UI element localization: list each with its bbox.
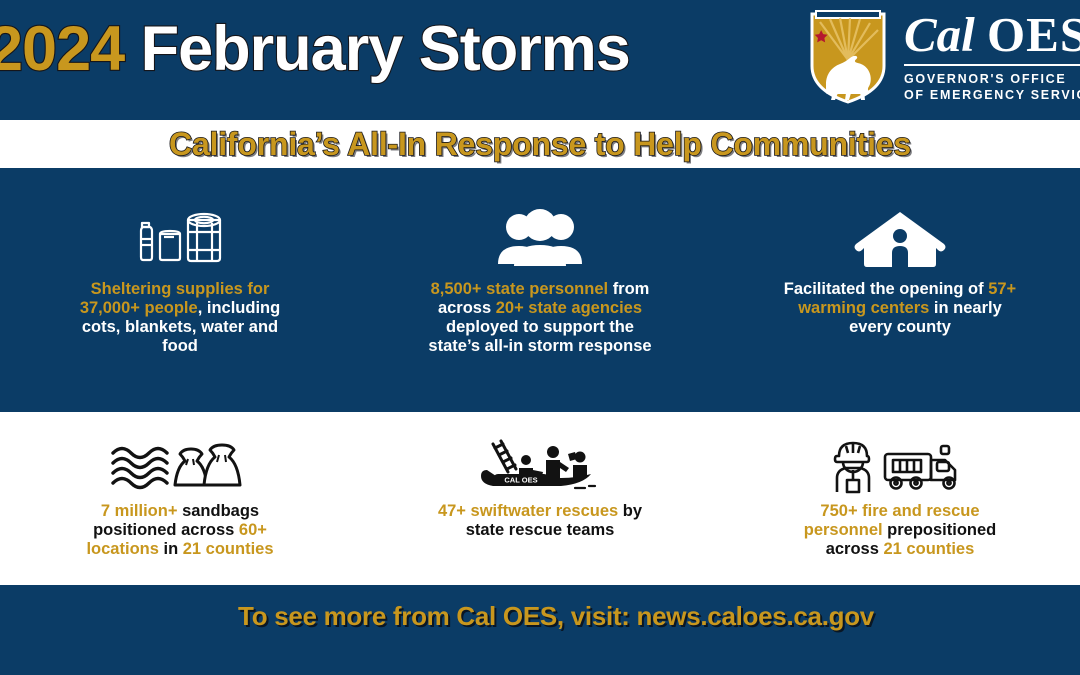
cal-oes-bear-shield-icon — [806, 6, 890, 106]
stat-text-swiftwater-rescues: 47+ swiftwater rescues by state rescue t… — [423, 502, 658, 540]
title-rest: February Storms — [124, 14, 630, 84]
footer-bar: To see more from Cal OES, visit: news.ca… — [0, 585, 1080, 675]
stat-card-warming-centers: Facilitated the opening of 57+ warming c… — [720, 168, 1080, 412]
stat-text-segment: in — [163, 540, 182, 558]
stats-row-top: Sheltering supplies for 37,000+ people, … — [0, 168, 1080, 412]
stat-card-sheltering-supplies: Sheltering supplies for 37,000+ people, … — [0, 168, 360, 412]
stat-text-segment: 7 million+ — [101, 502, 182, 520]
footer-text-inner: To see more from Cal OES, visit: news.ca… — [238, 601, 874, 632]
footer-link-text[interactable]: To see more from Cal OES, visit: news.ca… — [0, 601, 1080, 632]
logo-subtitle-line1: GOVERNOR'S OFFICE — [904, 71, 1080, 88]
stat-text-segment: deployed to support the state’s all-in s… — [428, 318, 651, 355]
stat-text-segment: 8,500+ state personnel — [431, 280, 613, 298]
stat-card-sandbags: 7 million+ sandbags positioned across 60… — [0, 412, 360, 585]
stat-text-segment: 47+ swiftwater rescues — [438, 502, 623, 520]
stat-text-segment: 20+ state agencies — [496, 299, 642, 317]
waves-and-sandbags-icon — [105, 436, 255, 494]
cal-oes-logo: Cal OES GOVERNOR'S OFFICE OF EMERGENCY S… — [806, 6, 1080, 106]
stat-text-fire-rescue-personnel: 750+ fire and rescue personnel prepositi… — [783, 502, 1018, 559]
stat-text-segment: Facilitated the opening of — [784, 280, 988, 298]
shelter-supplies-icon — [128, 208, 232, 270]
logo-name-cal: Cal — [904, 7, 987, 62]
boat-label: CAL OES — [504, 476, 537, 485]
stat-card-fire-rescue-personnel: 750+ fire and rescue personnel prepositi… — [720, 412, 1080, 585]
subtitle-text: California’s All-In Response to Help Com… — [169, 126, 911, 163]
logo-subtitle-line2: OF EMERGENCY SERVICES — [904, 87, 1080, 104]
stat-text-segment: 21 counties — [183, 540, 274, 558]
logo-name-oes: OES — [987, 7, 1080, 62]
logo-name: Cal OES — [904, 10, 1080, 59]
stat-text-warming-centers: Facilitated the opening of 57+ warming c… — [783, 280, 1018, 337]
stats-row-bottom: 7 million+ sandbags positioned across 60… — [0, 412, 1080, 585]
header-banner: 2024 February Storms — [0, 0, 1080, 120]
infographic-root: 2024 February Storms — [0, 0, 1080, 675]
stat-text-sheltering-supplies: Sheltering supplies for 37,000+ people, … — [63, 280, 298, 357]
stat-card-state-personnel: 8,500+ state personnel from across 20+ s… — [360, 168, 720, 412]
page-title: 2024 February Storms — [0, 18, 630, 81]
stat-text-segment: 21 counties — [884, 540, 975, 558]
logo-wordmark: Cal OES GOVERNOR'S OFFICE OF EMERGENCY S… — [904, 10, 1080, 104]
swiftwater-rescue-boat-icon: CAL OES — [465, 436, 615, 494]
stat-text-state-personnel: 8,500+ state personnel from across 20+ s… — [423, 280, 658, 357]
stat-card-swiftwater-rescues: CAL OES 47+ swiftwater rescues by state … — [360, 412, 720, 585]
firefighter-and-fire-truck-icon — [825, 436, 975, 494]
stat-text-sandbags: 7 million+ sandbags positioned across 60… — [63, 502, 298, 559]
logo-divider — [904, 64, 1080, 66]
group-of-people-icon — [488, 208, 592, 270]
title-year: 2024 — [0, 14, 124, 84]
subtitle-band: California’s All-In Response to Help Com… — [0, 120, 1080, 168]
house-with-person-icon — [848, 208, 952, 270]
